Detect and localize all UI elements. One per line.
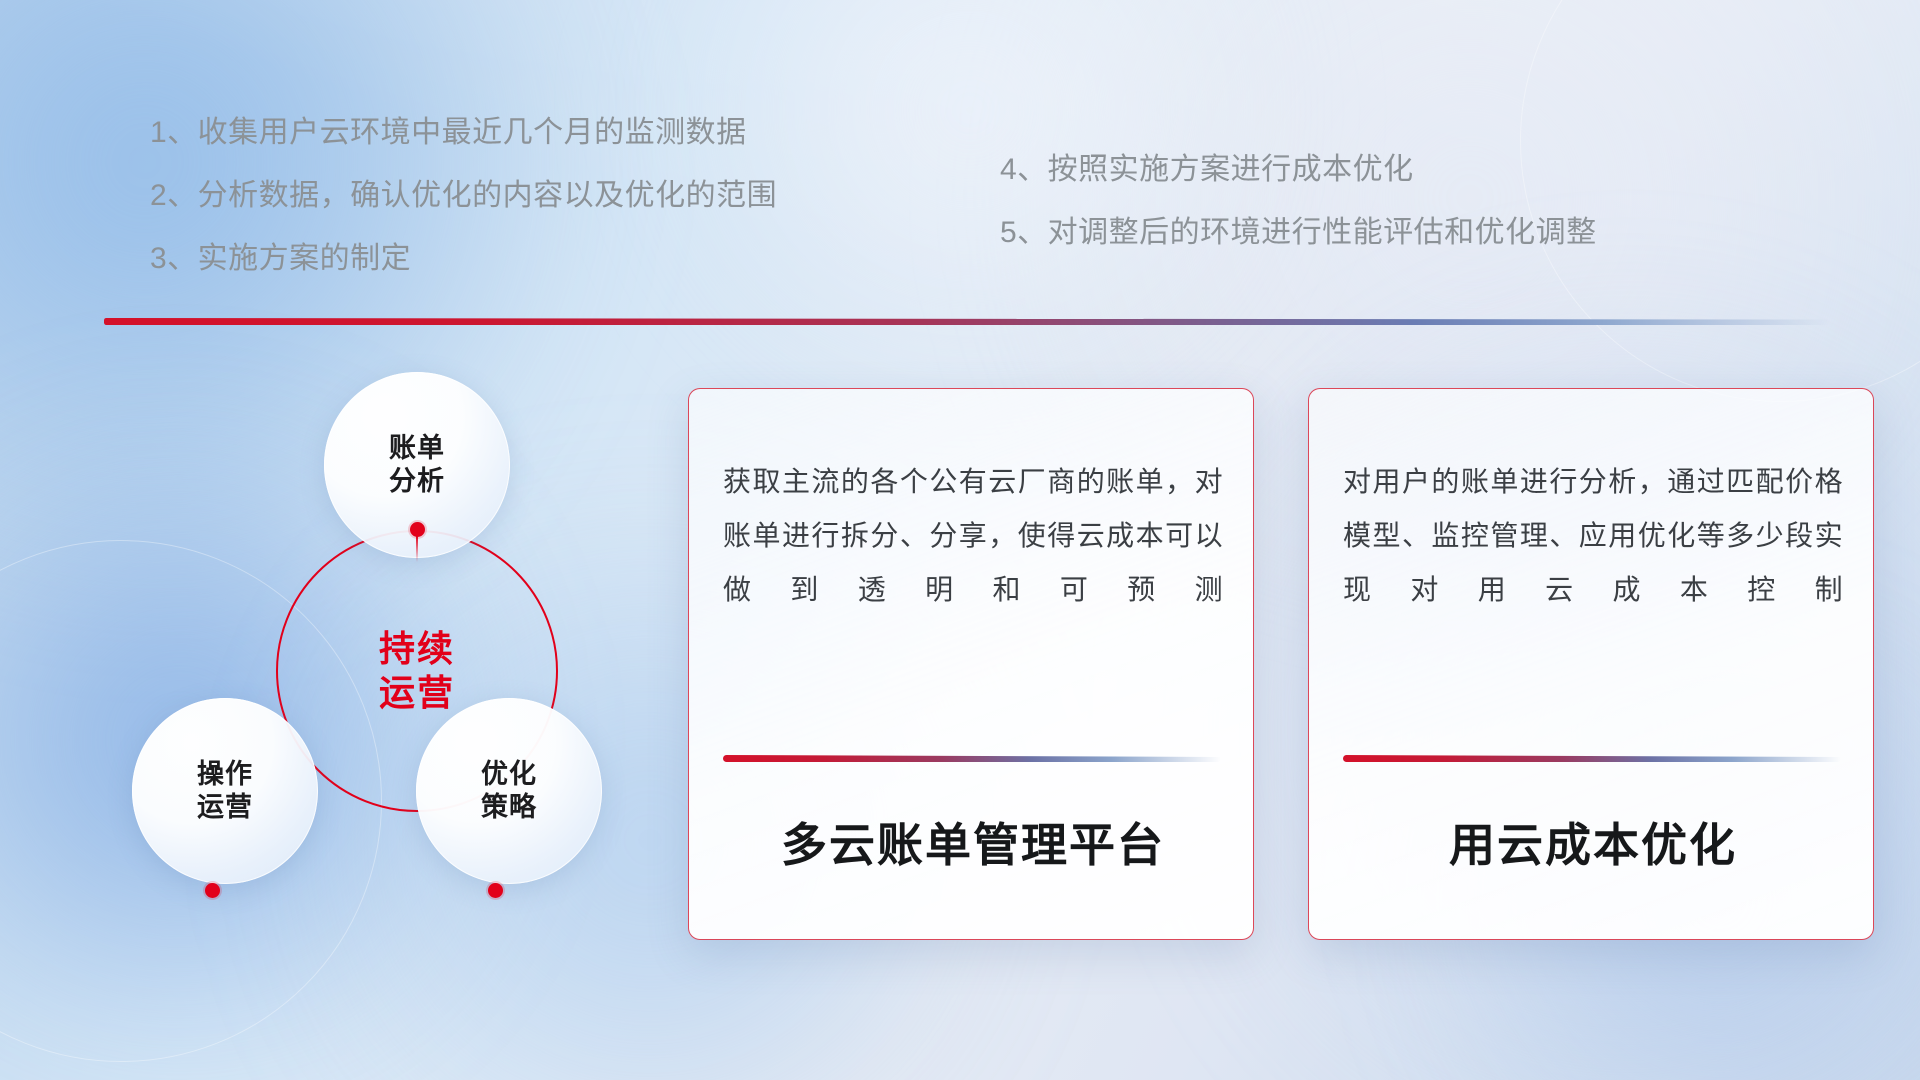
venn-node-optimization-strategy[interactable]: 优化 策略 bbox=[416, 698, 602, 884]
card-title: 用云成本优化 bbox=[1343, 809, 1843, 875]
connector-dot-left bbox=[205, 883, 220, 898]
step-list-left-column: 1、收集用户云环境中最近几个月的监测数据 2、分析数据，确认优化的内容以及优化的… bbox=[150, 118, 777, 307]
connector-stem-top bbox=[416, 536, 418, 562]
step-list-right-column: 4、按照实施方案进行成本优化 5、对调整后的环境进行性能评估和优化调整 bbox=[1000, 155, 1597, 281]
step-item-1: 1、收集用户云环境中最近几个月的监测数据 bbox=[150, 118, 777, 148]
venn-node-label: 优化 策略 bbox=[481, 758, 537, 825]
venn-node-label: 操作 运营 bbox=[197, 758, 253, 825]
card-body-text: 对用户的账单进行分析，通过匹配价格模型、监控管理、应用优化等多少段实现对用云成本… bbox=[1343, 455, 1843, 616]
venn-node-label: 账单 分析 bbox=[389, 432, 445, 499]
step-item-2: 2、分析数据，确认优化的内容以及优化的范围 bbox=[150, 181, 777, 211]
card-divider-rule bbox=[723, 755, 1221, 762]
step-item-3: 3、实施方案的制定 bbox=[150, 244, 777, 274]
continuous-operations-diagram: 持续 运营 账单 分析 操作 运营 优化 策略 bbox=[96, 350, 656, 950]
venn-node-label-line-2: 策略 bbox=[481, 791, 537, 824]
venn-node-label-line-1: 操作 bbox=[197, 758, 253, 791]
card-body-text: 获取主流的各个公有云厂商的账单，对账单进行拆分、分享，使得云成本可以做到透明和可… bbox=[723, 455, 1223, 616]
center-label-line-1: 持续 bbox=[379, 627, 455, 671]
connector-dot-top bbox=[410, 522, 425, 537]
step-item-4: 4、按照实施方案进行成本优化 bbox=[1000, 155, 1597, 185]
venn-node-label-line-2: 分析 bbox=[389, 465, 445, 498]
center-label-line-2: 运营 bbox=[379, 671, 455, 715]
feature-card-cloud-cost-optimization[interactable]: 对用户的账单进行分析，通过匹配价格模型、监控管理、应用优化等多少段实现对用云成本… bbox=[1308, 388, 1874, 940]
venn-node-label-line-1: 优化 bbox=[481, 758, 537, 791]
connector-dot-right bbox=[488, 883, 503, 898]
step-item-5: 5、对调整后的环境进行性能评估和优化调整 bbox=[1000, 218, 1597, 248]
venn-node-operations[interactable]: 操作 运营 bbox=[132, 698, 318, 884]
card-title: 多云账单管理平台 bbox=[723, 809, 1223, 875]
venn-node-label-line-1: 账单 bbox=[389, 432, 445, 465]
card-divider-rule bbox=[1343, 755, 1841, 762]
feature-card-multicloud-billing[interactable]: 获取主流的各个公有云厂商的账单，对账单进行拆分、分享，使得云成本可以做到透明和可… bbox=[688, 388, 1254, 940]
venn-node-label-line-2: 运营 bbox=[197, 791, 253, 824]
